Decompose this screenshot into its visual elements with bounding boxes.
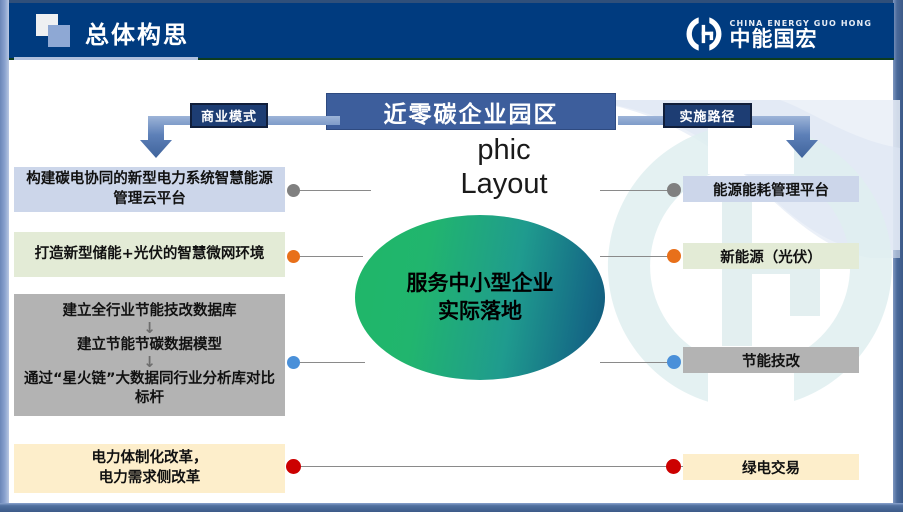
placeholder-line-1: phic bbox=[404, 133, 604, 167]
left-box-power-system-reform[interactable]: 电力体制化改革， 电力需求侧改革 bbox=[14, 444, 285, 493]
guohong-circle-g-logo-icon bbox=[685, 15, 723, 53]
connector-dot-left-3 bbox=[287, 356, 300, 369]
placeholder-line-2: Layout bbox=[404, 167, 604, 201]
tag-implementation-path[interactable]: 实施路径 bbox=[663, 103, 752, 128]
placeholder-text: phic Layout bbox=[404, 133, 604, 201]
frame-left-border bbox=[0, 0, 9, 512]
tag-business-model[interactable]: 商业模式 bbox=[190, 103, 268, 128]
brand-chinese-name: 中能国宏 bbox=[730, 29, 872, 50]
connector-dot-right-1 bbox=[667, 183, 681, 197]
connector-line-left-3 bbox=[293, 362, 365, 363]
connector-dot-right-2 bbox=[667, 249, 681, 263]
page-title: 总体构思 bbox=[85, 15, 189, 50]
right-box-2-label: 新能源（光伏） bbox=[720, 246, 822, 267]
right-box-green-power-trading[interactable]: 绿电交易 bbox=[683, 454, 859, 480]
connector-dot-right-3 bbox=[667, 355, 681, 369]
left-box-1-label: 构建碳电协同的新型电力系统智慧能源管理云平台 bbox=[22, 170, 277, 209]
left-box-4-line-2: 电力需求侧改革 bbox=[99, 469, 201, 489]
connector-line-left-4 bbox=[293, 466, 693, 467]
left-box-3-step-3: 通过“星火链”大数据同行业分析库对比标杆 bbox=[22, 370, 277, 408]
center-banner-title: 近零碳企业园区 bbox=[326, 93, 616, 130]
connector-line-left-2 bbox=[293, 256, 363, 257]
central-ellipse: 服务中小型企业 实际落地 bbox=[355, 215, 605, 380]
frame-right-border bbox=[893, 0, 903, 512]
squares-icon bbox=[36, 14, 72, 48]
right-box-1-label: 能源能耗管理平台 bbox=[713, 179, 829, 200]
right-box-new-energy-pv[interactable]: 新能源（光伏） bbox=[683, 243, 859, 269]
left-box-power-cloud-platform[interactable]: 构建碳电协同的新型电力系统智慧能源管理云平台 bbox=[14, 167, 285, 212]
left-box-2-label: 打造新型储能+光伏的智慧微网环境 bbox=[35, 245, 265, 265]
connector-dot-right-4 bbox=[666, 459, 681, 474]
down-arrow-icon-1: ↓ bbox=[22, 322, 277, 336]
connector-dot-left-1 bbox=[287, 184, 300, 197]
right-box-3-label: 节能技改 bbox=[742, 350, 800, 371]
central-ellipse-label: 服务中小型企业 实际落地 bbox=[355, 215, 605, 380]
left-box-microgrid-environment[interactable]: 打造新型储能+光伏的智慧微网环境 bbox=[14, 232, 285, 277]
connector-line-left-1 bbox=[293, 190, 371, 191]
ellipse-line-2: 实际落地 bbox=[438, 298, 522, 326]
header-bar: 总体构思 CHINA ENERGY GUO HONG 中能国宏 bbox=[9, 3, 894, 60]
frame-bottom-border bbox=[0, 503, 903, 512]
left-box-energy-saving-database[interactable]: 建立全行业节能技改数据库 ↓ 建立节能节碳数据模型 ↓ 通过“星火链”大数据同行… bbox=[14, 294, 285, 416]
brand-logo: CHINA ENERGY GUO HONG 中能国宏 bbox=[685, 13, 872, 55]
slide-canvas: 总体构思 CHINA ENERGY GUO HONG 中能国宏 bbox=[0, 0, 903, 512]
right-box-4-label: 绿电交易 bbox=[742, 457, 800, 478]
right-box-energy-consumption-platform[interactable]: 能源能耗管理平台 bbox=[683, 176, 859, 202]
right-box-energy-saving-retrofit[interactable]: 节能技改 bbox=[683, 347, 859, 373]
connector-dot-left-4 bbox=[286, 459, 301, 474]
ellipse-line-1: 服务中小型企业 bbox=[407, 270, 554, 298]
connector-dot-left-2 bbox=[287, 250, 300, 263]
header-accent-strip bbox=[14, 57, 198, 60]
left-box-4-line-1: 电力体制化改革， bbox=[92, 449, 208, 469]
down-arrow-icon-2: ↓ bbox=[22, 356, 277, 370]
